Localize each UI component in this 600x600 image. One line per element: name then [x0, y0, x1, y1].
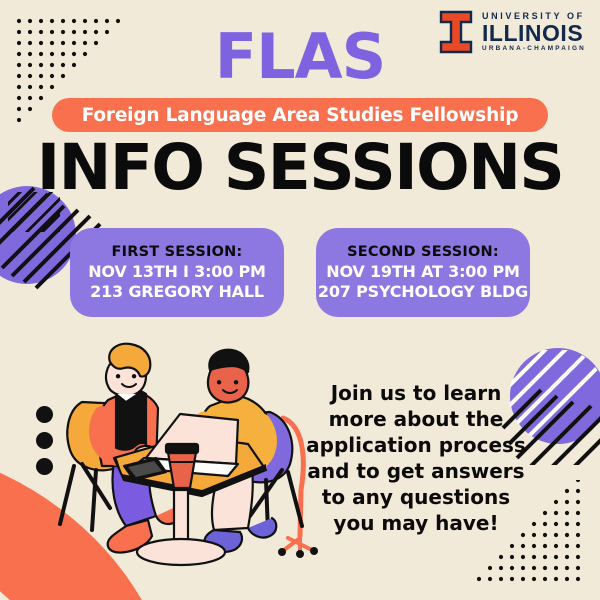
session-heading: FIRST SESSION:	[112, 244, 243, 260]
page-title-acronym: FLAS	[0, 20, 600, 93]
session-card-second[interactable]: SECOND SESSION: NOV 19TH AT 3:00 PM 207 …	[316, 228, 530, 317]
two-students-at-table-with-laptop-illustration	[52, 340, 342, 575]
session-location: 213 GREGORY HALL	[90, 282, 264, 302]
session-location: 207 PSYCHOLOGY BLDG	[318, 282, 528, 302]
three-dots-left	[36, 406, 53, 484]
flas-info-session-poster: UNIVERSITY OF ILLINOIS URBANA-CHAMPAIGN …	[0, 0, 600, 600]
session-heading: SECOND SESSION:	[347, 244, 499, 260]
session-card-list: FIRST SESSION: NOV 13TH I 3:00 PM 213 GR…	[0, 228, 600, 317]
session-datetime: NOV 19TH AT 3:00 PM	[326, 262, 520, 282]
page-headline: INFO SESSIONS	[0, 131, 600, 204]
session-datetime: NOV 13TH I 3:00 PM	[88, 262, 266, 282]
subtitle-ribbon: Foreign Language Area Studies Fellowship	[52, 98, 548, 132]
subtitle-ribbon-label: Foreign Language Area Studies Fellowship	[82, 105, 519, 126]
session-card-first[interactable]: FIRST SESSION: NOV 13TH I 3:00 PM 213 GR…	[70, 228, 284, 317]
